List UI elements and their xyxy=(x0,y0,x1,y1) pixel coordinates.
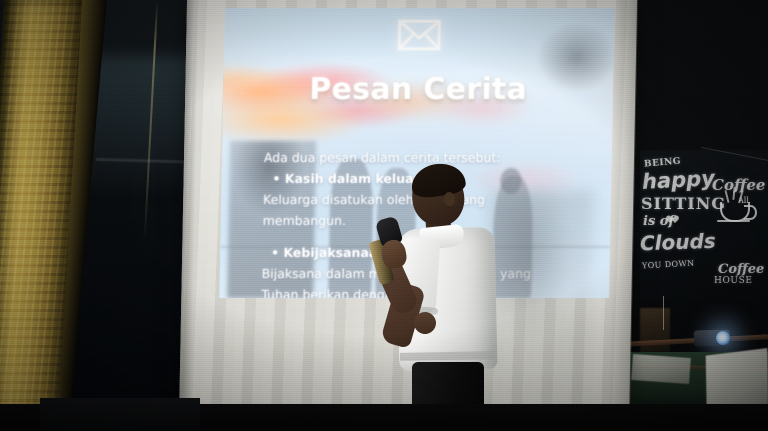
presenter-shirt-hem xyxy=(400,351,494,361)
hanging-wire xyxy=(663,296,664,330)
coffee-cup-icon xyxy=(720,196,754,222)
chalk-line: Clouds xyxy=(640,229,716,256)
envelope-icon xyxy=(397,19,442,51)
chalk-line: SITTING xyxy=(641,194,726,213)
heart-icon xyxy=(666,216,675,225)
chalk-line: HOUSE xyxy=(714,276,753,286)
floor xyxy=(40,398,200,431)
presenter xyxy=(378,166,518,431)
chalk-line: happy xyxy=(641,166,715,194)
scene-photo: BEING happy SITTING is of Clouds YOU DOW… xyxy=(0,0,768,431)
stage-lamp xyxy=(716,331,730,345)
chalk-line: Coffee xyxy=(718,262,764,277)
slide-intro: Ada dua pesan dalam cerita tersebut: xyxy=(264,148,588,167)
chalk-line: YOU DOWN xyxy=(642,259,695,271)
coffee-chalkboard: BEING happy SITTING is of Clouds YOU DOW… xyxy=(640,150,768,302)
white-tarp xyxy=(631,354,691,384)
chalk-line: Coffee xyxy=(712,176,765,194)
slide-title: Pesan Cerita xyxy=(223,72,614,107)
